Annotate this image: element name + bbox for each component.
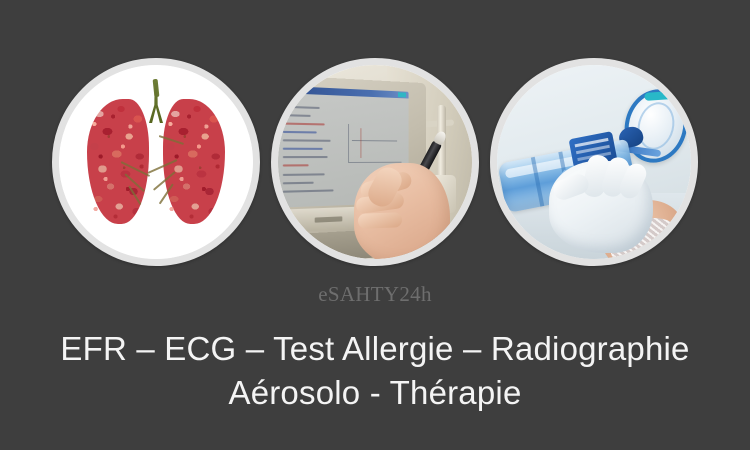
photo-circle-aerosol (490, 58, 698, 266)
lung-left-shape (87, 99, 149, 224)
services-headline: EFR – ECG – Test Allergie – Radiographie… (0, 327, 750, 415)
headline-line-2: Aérosolo - Thérapie (0, 371, 750, 415)
screen-text-row (283, 181, 314, 184)
photo-circle-lungs (52, 58, 260, 266)
window-titlebar (278, 85, 409, 98)
screen-text-row (283, 131, 317, 134)
watermark-text: eSAHTY24h (0, 282, 750, 307)
screen-text-row (283, 173, 325, 176)
aerosol-therapy-photo (497, 65, 691, 259)
bronchi-branch (149, 83, 163, 123)
spirometry-curve (348, 124, 401, 163)
chamber-ring (531, 157, 544, 207)
photo-circle-monitor (271, 58, 479, 266)
clinic-services-banner: eSAHTY24h EFR – ECG – Test Allergie – Ra… (0, 0, 750, 450)
screen-text-row (283, 122, 325, 125)
clinician-hand (354, 163, 450, 259)
screen-text-row (283, 189, 333, 192)
monitor-logo (315, 216, 343, 222)
service-photo-row (0, 58, 750, 274)
screen-text-row (283, 165, 309, 167)
screen-text-row (283, 148, 323, 150)
mask-teal-strip (644, 90, 680, 100)
gloved-hand (549, 161, 653, 253)
titlebar-accent (398, 92, 406, 97)
mask-inner-ring (633, 98, 680, 153)
screen-text-row (283, 139, 331, 142)
screen-text-row (283, 105, 320, 108)
headline-line-1: EFR – ECG – Test Allergie – Radiographie (0, 327, 750, 371)
screen-text-row (283, 156, 328, 158)
screen-text-row (283, 114, 311, 117)
lungs-floral-photo (59, 65, 253, 259)
spirometry-monitor-photo (278, 65, 472, 259)
finger (358, 212, 402, 229)
